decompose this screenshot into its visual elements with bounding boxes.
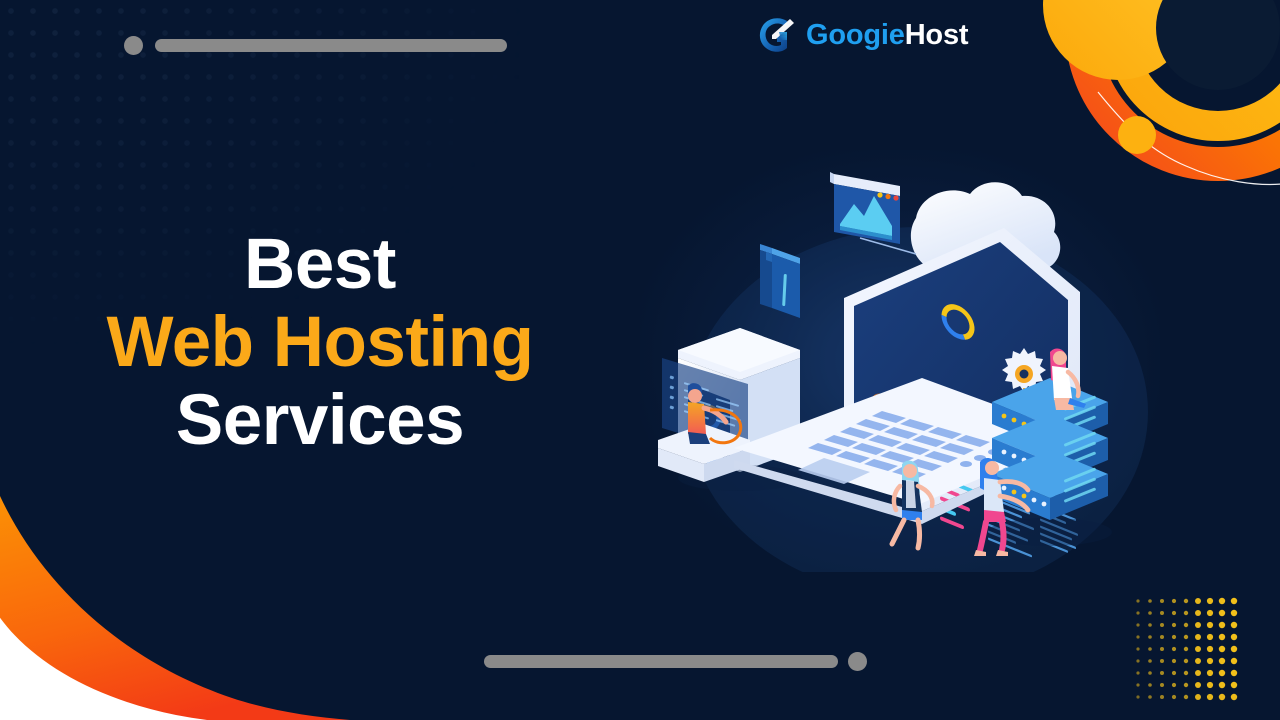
hero-banner: GoogieHost Best Web Hosting Services	[0, 0, 1280, 720]
brand-logo[interactable]: GoogieHost	[757, 16, 968, 54]
headline-line-1: Best	[0, 228, 640, 302]
slider-knob-bottom[interactable]	[848, 652, 867, 671]
logo-name-secondary: Host	[905, 19, 969, 51]
dark-core-circle	[1156, 0, 1280, 90]
slider-knob-top[interactable]	[124, 36, 143, 55]
decorative-slider-top[interactable]	[124, 36, 507, 55]
slider-track-top[interactable]	[155, 39, 507, 52]
slider-track-bottom[interactable]	[484, 655, 838, 668]
logo-name-primary: Googie	[806, 19, 905, 51]
page-title: Best Web Hosting Services	[0, 228, 640, 457]
decorative-slider-bottom[interactable]	[484, 652, 867, 671]
headline-line-2: Web Hosting	[0, 306, 640, 380]
amber-dot	[1118, 116, 1156, 154]
headline-line-3: Services	[0, 384, 640, 458]
logo-wordmark: GoogieHost	[806, 21, 968, 50]
floating-browser-window-chart	[830, 172, 900, 244]
isometric-web-hosting-illustration	[648, 152, 1168, 572]
yellow-dot-grid	[1134, 597, 1238, 701]
googiehost-logo-icon	[757, 16, 797, 54]
corner-bottom-left-art	[0, 484, 350, 720]
